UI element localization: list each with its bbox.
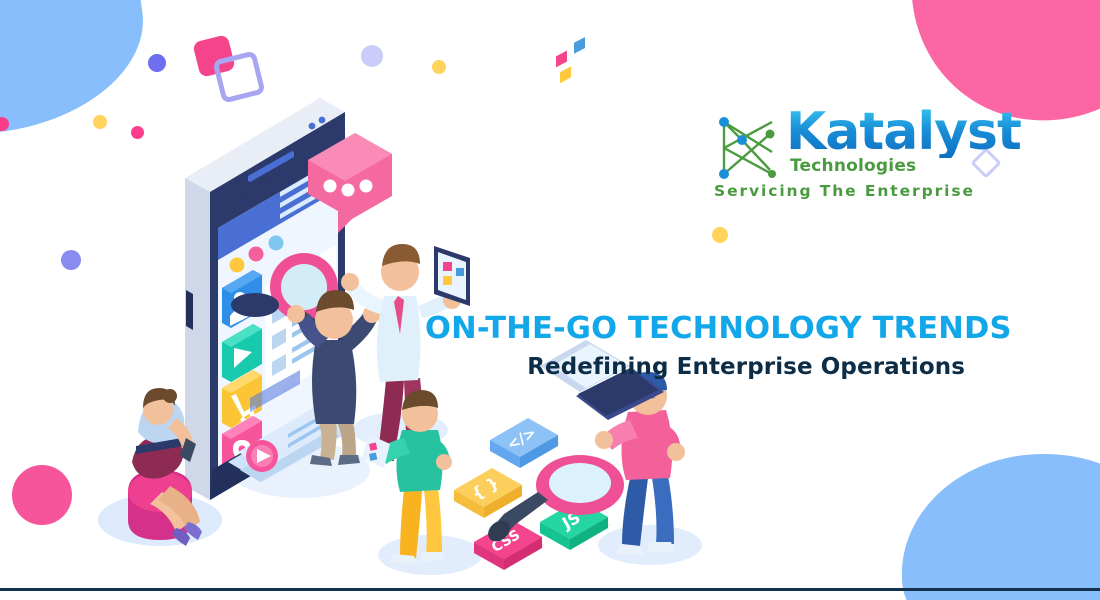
network-k-icon	[712, 112, 784, 184]
brand-sub: Technologies	[790, 156, 916, 176]
brand-name: Katalyst	[786, 106, 1021, 158]
headline-title: ON-THE-GO TECHNOLOGY TRENDS	[425, 313, 965, 345]
promotional-banner: </> { } CSS	[0, 0, 1100, 600]
brand-logo[interactable]: Katalyst Technologies Servicing The Ente…	[712, 108, 968, 208]
code-tag-tile: </>	[488, 418, 560, 468]
isometric-technology-illustration: </> { } CSS	[0, 0, 1100, 600]
headline-subtitle: Redefining Enterprise Operations	[425, 354, 965, 380]
headline-block: ON-THE-GO TECHNOLOGY TRENDS Redefining E…	[425, 313, 965, 380]
bottom-rule	[0, 588, 1100, 591]
brand-tagline: Servicing The Enterprise	[714, 182, 975, 200]
